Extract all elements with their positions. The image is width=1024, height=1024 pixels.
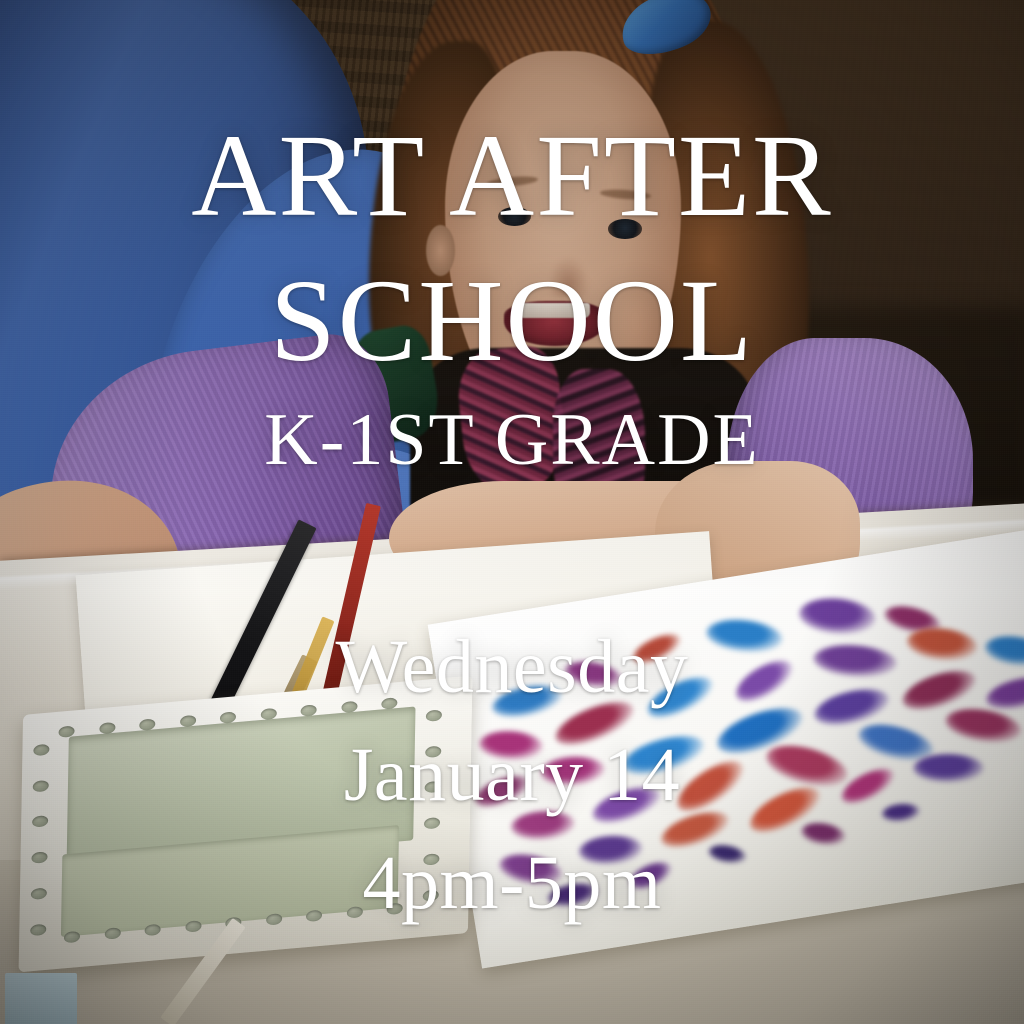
headline-line-2: SCHOOL <box>0 262 1024 380</box>
event-time: 4pm-5pm <box>0 845 1024 921</box>
subheadline-grade-range: K-1ST GRADE <box>0 398 1024 483</box>
headline-line-1: ART AFTER <box>0 117 1024 235</box>
event-flyer: ART AFTER SCHOOL K-1ST GRADE Wednesday J… <box>0 0 1024 1024</box>
text-overlay: ART AFTER SCHOOL K-1ST GRADE Wednesday J… <box>0 0 1024 1024</box>
event-date: January 14 <box>0 737 1024 813</box>
event-day: Wednesday <box>0 629 1024 705</box>
